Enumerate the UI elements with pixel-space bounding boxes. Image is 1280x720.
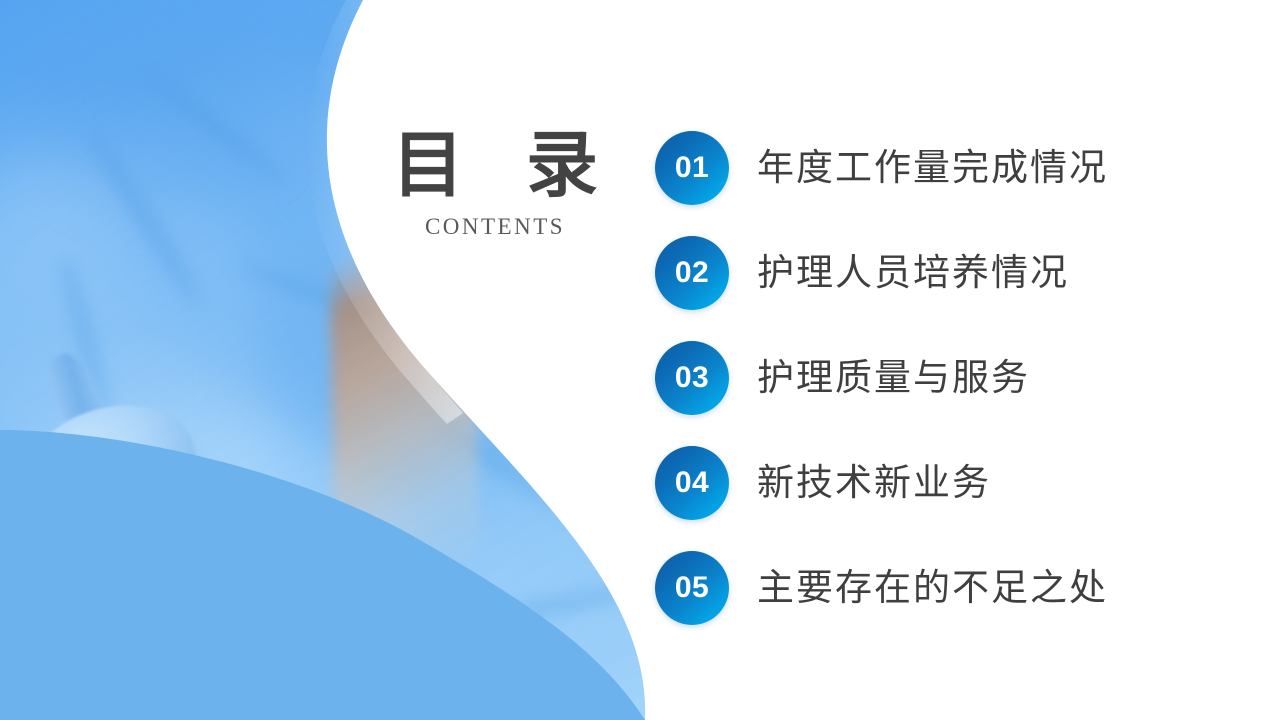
contents-item-03[interactable]: 03 护理质量与服务 <box>655 340 1215 416</box>
photo-blue-tint-overlay <box>0 0 660 720</box>
badge-number: 01 <box>675 153 709 183</box>
badge-number: 02 <box>675 258 709 288</box>
badge-number: 03 <box>675 363 709 393</box>
page-title: 目 录 CONTENTS <box>370 130 620 240</box>
background-photo <box>0 0 660 720</box>
badge-number: 05 <box>675 573 709 603</box>
contents-item-label: 新技术新业务 <box>757 465 991 502</box>
contents-item-01[interactable]: 01 年度工作量完成情况 <box>655 130 1215 206</box>
contents-slide: 目 录 CONTENTS 01 年度工作量完成情况 02 护理人员培养情况 03… <box>0 0 1280 720</box>
badge-number: 04 <box>675 468 709 498</box>
contents-item-02[interactable]: 02 护理人员培养情况 <box>655 235 1215 311</box>
number-badge-05[interactable]: 05 <box>655 551 729 625</box>
contents-item-04[interactable]: 04 新技术新业务 <box>655 445 1215 521</box>
number-badge-02[interactable]: 02 <box>655 236 729 310</box>
contents-item-label: 护理人员培养情况 <box>757 255 1069 292</box>
number-badge-03[interactable]: 03 <box>655 341 729 415</box>
number-badge-01[interactable]: 01 <box>655 131 729 205</box>
contents-item-label: 主要存在的不足之处 <box>757 570 1108 607</box>
title-chinese: 目 录 <box>370 130 620 202</box>
number-badge-04[interactable]: 04 <box>655 446 729 520</box>
contents-item-05[interactable]: 05 主要存在的不足之处 <box>655 550 1215 626</box>
contents-list: 01 年度工作量完成情况 02 护理人员培养情况 03 护理质量与服务 04 新… <box>655 130 1215 626</box>
contents-item-label: 护理质量与服务 <box>757 360 1030 397</box>
title-english: CONTENTS <box>370 214 620 240</box>
contents-item-label: 年度工作量完成情况 <box>757 150 1108 187</box>
